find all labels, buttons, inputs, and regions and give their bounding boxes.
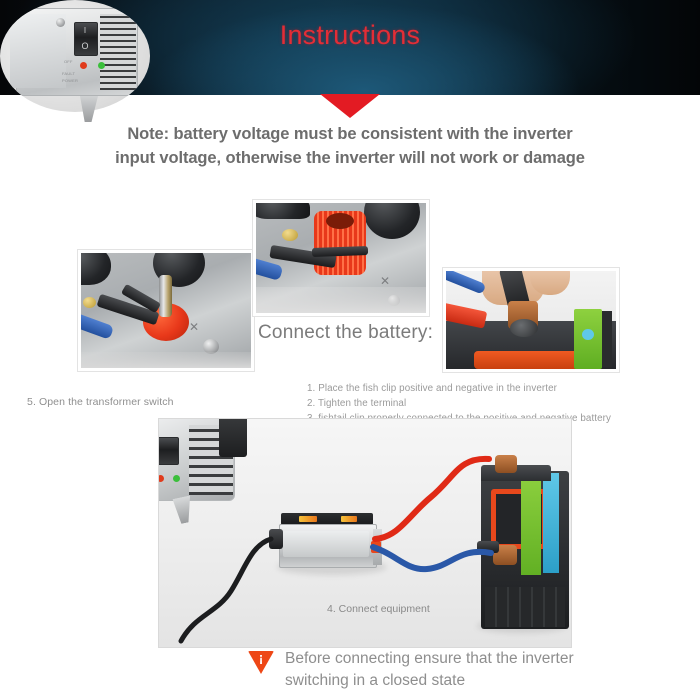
panel-edge: [256, 287, 426, 313]
power-led: [173, 475, 180, 482]
inverter-red-terminal-cap-photo: ✕: [253, 200, 429, 316]
battery-post: [510, 319, 538, 337]
list-item: 2. Tighten the terminal: [307, 396, 700, 411]
footer-warning: ! Before connecting ensure that the inve…: [248, 648, 688, 692]
warning-triangle-icon: !: [248, 651, 274, 675]
red-down-arrow-icon: [320, 94, 380, 118]
warning-text: Before connecting ensure that the invert…: [285, 648, 574, 692]
label-badge: [582, 329, 594, 340]
chrome-post-stud: [159, 275, 172, 317]
off-label: OFF: [64, 60, 73, 65]
fault-label: FAULT: [62, 72, 75, 77]
full-wiring-setup-photo: 4. Connect equipment: [158, 418, 572, 648]
warning-line-1: Before connecting ensure that the invert…: [285, 648, 574, 670]
power-label: POWER: [62, 79, 78, 84]
battery-orange-trim: [474, 351, 578, 369]
brass-nut: [282, 229, 298, 241]
brass-nut: [83, 297, 96, 308]
clamp-on-battery-post-photo: [443, 268, 619, 372]
panel-screw: [56, 18, 65, 27]
black-cable-boot: [253, 200, 310, 219]
setup-caption: 4. Connect equipment: [327, 603, 430, 615]
note-line-2: input voltage, otherwise the inverter wi…: [0, 146, 700, 170]
warning-line-2: switching in a closed state: [285, 670, 574, 692]
transformer-dark-end: [219, 418, 247, 457]
panel-edge: [81, 352, 251, 368]
list-item: 1. Place the fish clip positive and nega…: [307, 381, 700, 396]
note-text: Note: battery voltage must be consistent…: [0, 122, 700, 170]
note-line-1: Note: battery voltage must be consistent…: [0, 122, 700, 146]
connect-battery-heading: Connect the battery:: [258, 322, 433, 344]
open-transformer-switch-label: 5. Open the transformer switch: [27, 396, 174, 408]
cap-bore: [326, 213, 354, 229]
fault-led: [80, 62, 87, 69]
battery-side: [602, 311, 612, 367]
inverter-red-terminal-post-photo: ✕: [78, 250, 254, 371]
switch-on-marking: I: [79, 26, 91, 36]
transformer-power-switch[interactable]: [158, 437, 179, 465]
switch-off-marking: O: [79, 40, 91, 52]
power-led: [98, 62, 105, 69]
cooling-vents: [100, 14, 136, 90]
callout-oval: I O OFF FAULT POWER: [0, 0, 150, 112]
transformer-switch-closeup-photo: I O OFF FAULT POWER: [0, 0, 150, 122]
